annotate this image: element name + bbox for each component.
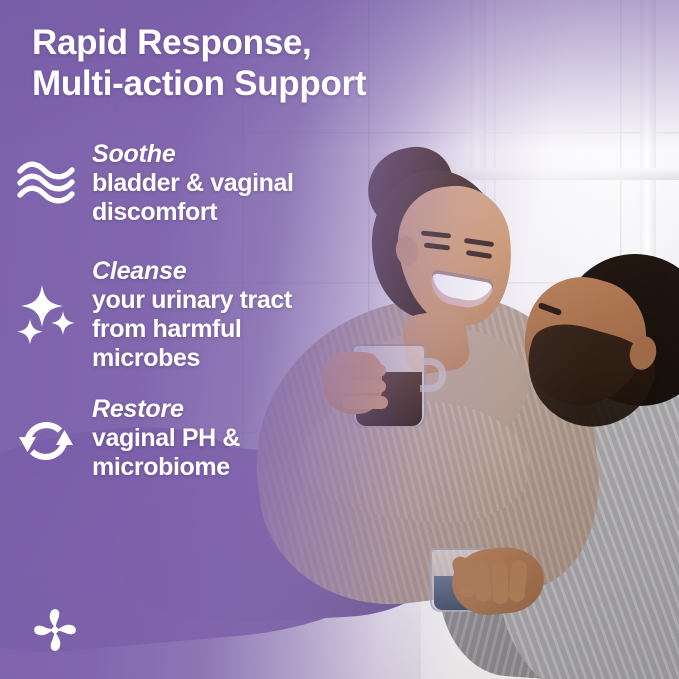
benefit-title: Cleanse [92,257,292,286]
waves-icon [17,160,75,204]
benefit-description: bladder & vaginal discomfort [92,169,294,227]
headline-line-1: Rapid Response, [32,22,502,63]
benefit-title: Soothe [92,140,294,169]
four-petal-flower-logo-icon [28,603,82,657]
benefit-item-cleanse: Cleanse your urinary tract from harmful … [0,257,420,373]
benefit-text: Soothe bladder & vaginal discomfort [92,140,294,227]
benefit-item-restore: Restore vaginal PH & microbiome [0,395,420,482]
benefit-description: your urinary tract from harmful microbes [92,286,292,373]
benefit-icon-slot [0,257,92,345]
brand-logo [28,603,82,657]
benefit-description: vaginal PH & microbiome [92,424,240,482]
benefit-icon-slot [0,395,92,469]
benefit-title: Restore [92,395,240,424]
refresh-cycle-icon [17,413,75,469]
headline-line-2: Multi-action Support [32,63,502,104]
ad-content: Rapid Response, Multi-action Support [0,0,679,679]
benefit-text: Cleanse your urinary tract from harmful … [92,257,292,373]
page-title: Rapid Response, Multi-action Support [32,22,502,105]
benefit-icon-slot [0,140,92,204]
sparkles-icon [16,283,76,345]
benefit-text: Restore vaginal PH & microbiome [92,395,240,482]
product-benefit-ad: Rapid Response, Multi-action Support [0,0,679,679]
benefit-list: Soothe bladder & vaginal discomfort [0,140,420,504]
benefit-item-soothe: Soothe bladder & vaginal discomfort [0,140,420,227]
